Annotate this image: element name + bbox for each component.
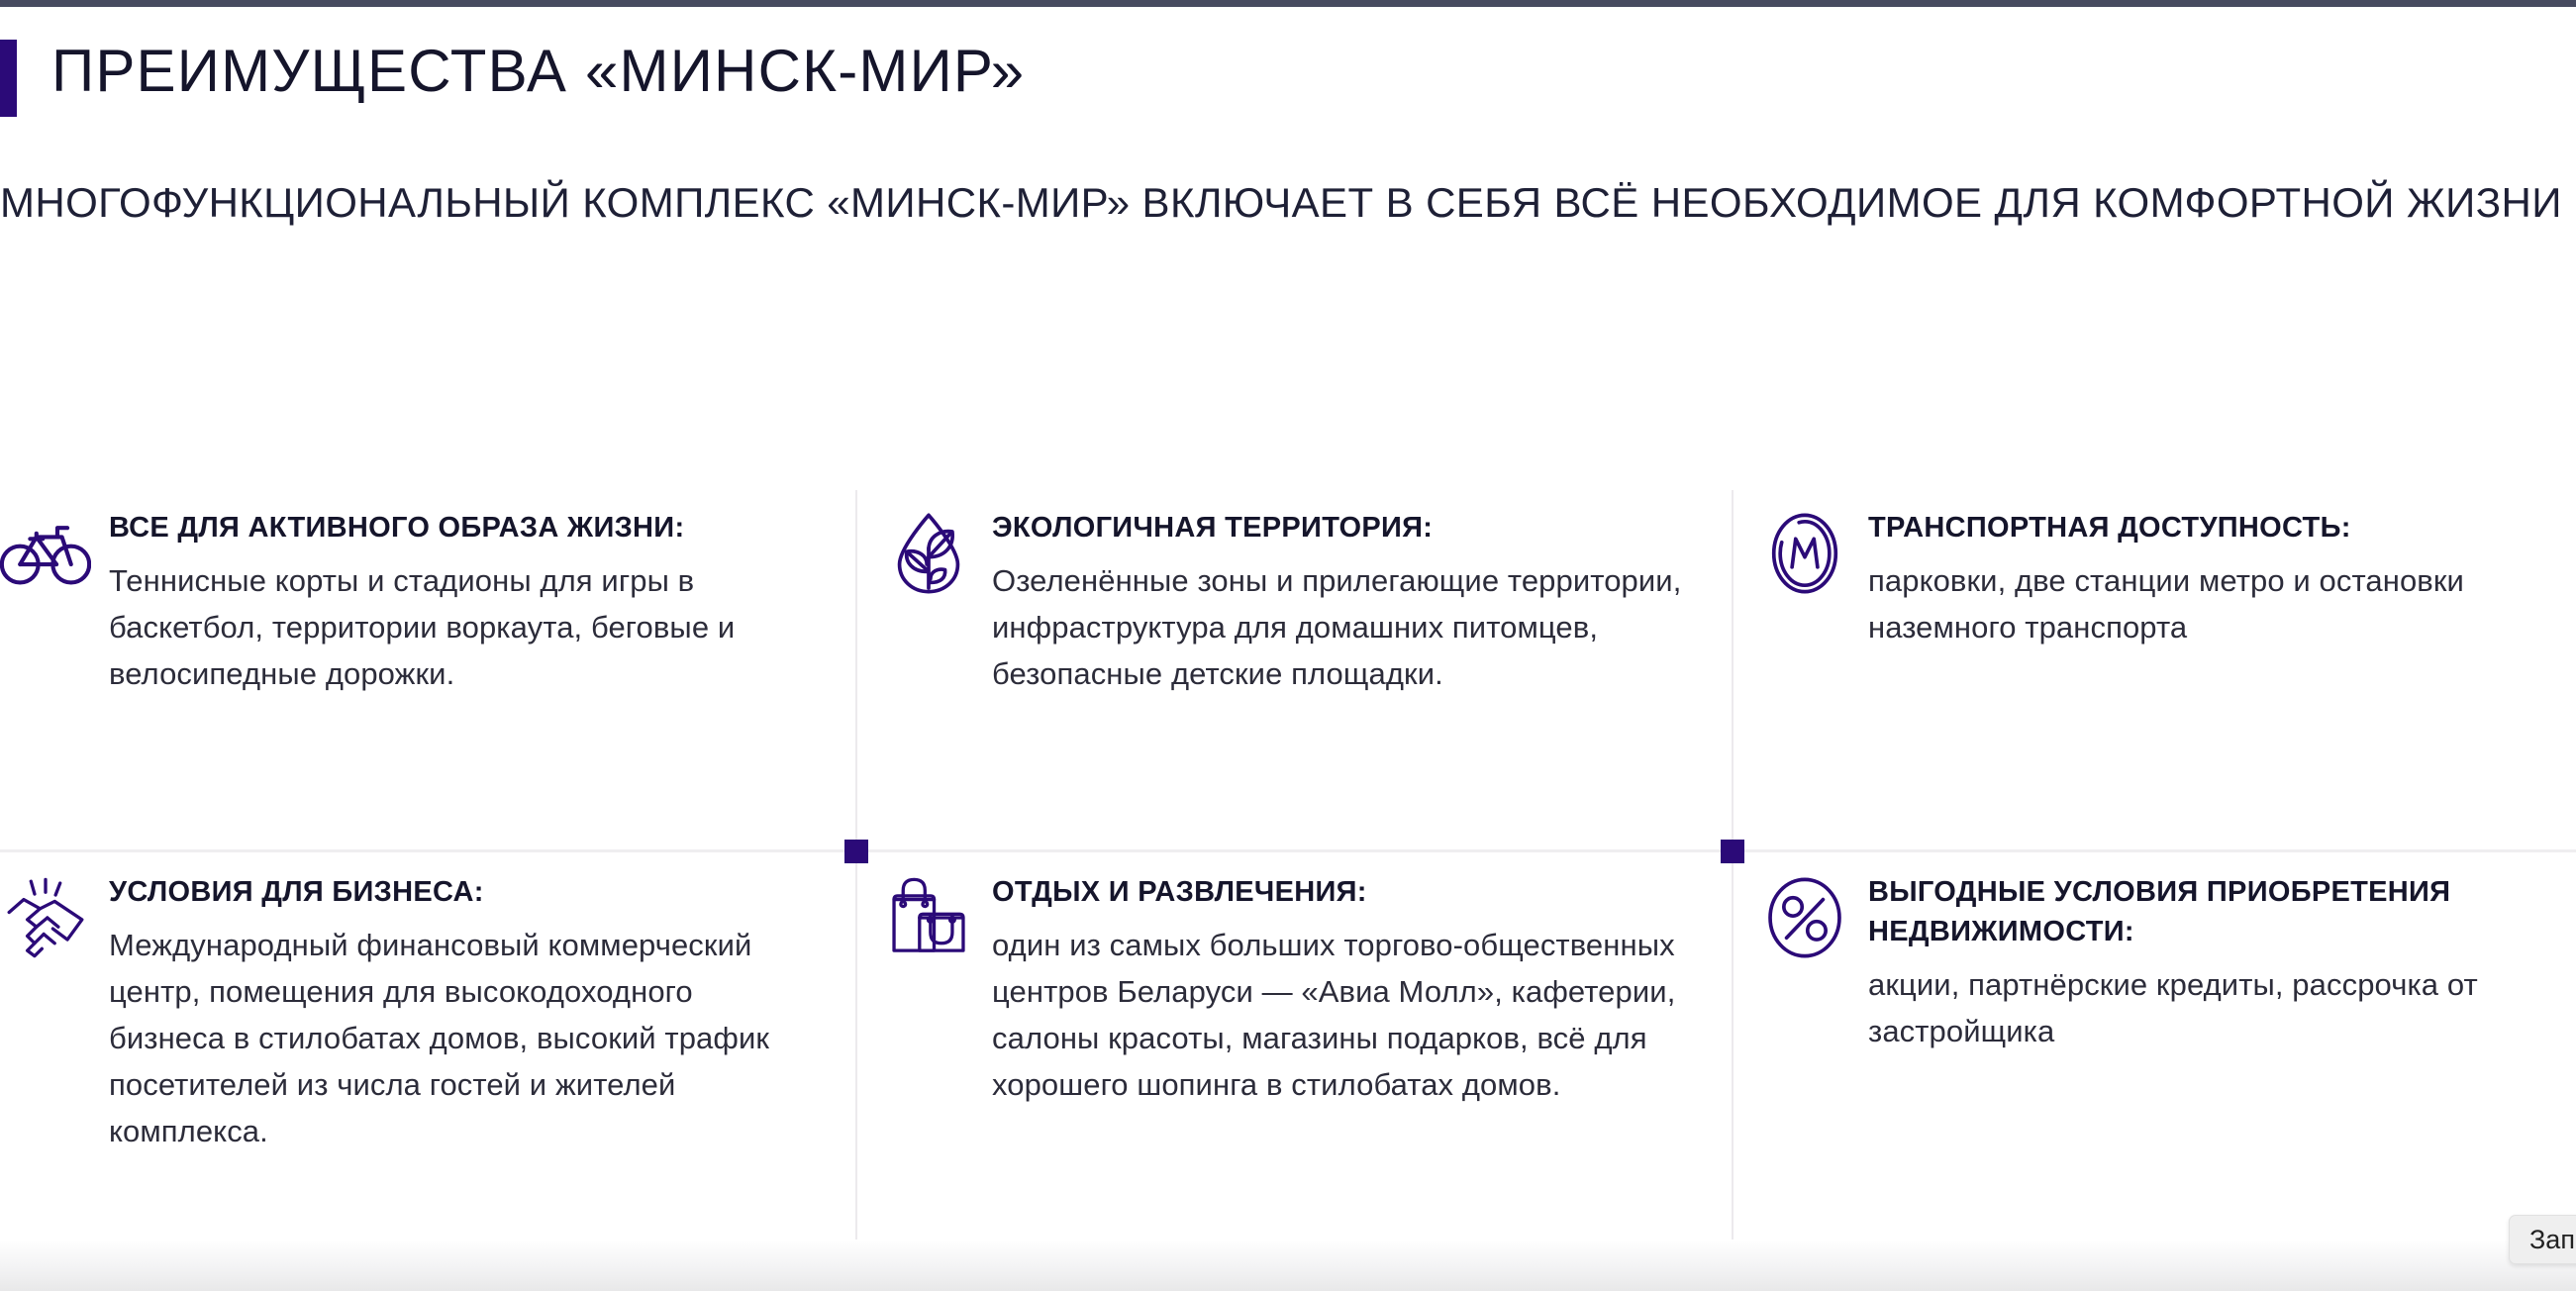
bicycle-icon [0, 504, 109, 613]
percent-icon [1759, 868, 1868, 977]
advantage-card-leisure[interactable]: ОТДЫХ И РАЗВЛЕЧЕНИЯ: один из самых больш… [883, 868, 1695, 1108]
card-body: ТРАНСПОРТНАЯ ДОСТУПНОСТЬ: парковки, две … [1868, 504, 2551, 650]
grid-marker-2 [1721, 840, 1744, 863]
column-divider-1 [855, 490, 857, 1242]
card-title: УСЛОВИЯ ДЛЯ БИЗНЕСА: [109, 872, 802, 912]
card-title: ОТДЫХ И РАЗВЛЕЧЕНИЯ: [992, 872, 1685, 912]
advantage-card-eco-territory[interactable]: ЭКОЛОГИЧНАЯ ТЕРРИТОРИЯ: Озеленённые зоны… [883, 504, 1695, 697]
card-body: ВЫГОДНЫЕ УСЛОВИЯ ПРИОБРЕТЕНИЯ НЕДВИЖИМОС… [1868, 868, 2551, 1054]
card-text: Международный финансовый коммерческий це… [109, 922, 802, 1155]
card-text: акции, партнёрские кредиты, рассрочка от… [1868, 961, 2551, 1054]
card-text: один из самых больших торгово-общественн… [992, 922, 1685, 1108]
advantage-card-active-lifestyle[interactable]: ВСЕ ДЛЯ АКТИВНОГО ОБРАЗА ЖИЗНИ: Теннисны… [0, 504, 812, 697]
card-title: ТРАНСПОРТНАЯ ДОСТУПНОСТЬ: [1868, 508, 2551, 547]
card-body: ОТДЫХ И РАЗВЛЕЧЕНИЯ: один из самых больш… [992, 868, 1685, 1108]
card-body: ЭКОЛОГИЧНАЯ ТЕРРИТОРИЯ: Озеленённые зоны… [992, 504, 1685, 697]
card-title: ВЫГОДНЫЕ УСЛОВИЯ ПРИОБРЕТЕНИЯ НЕДВИЖИМОС… [1868, 872, 2551, 951]
grid-marker-1 [844, 840, 868, 863]
card-body: ВСЕ ДЛЯ АКТИВНОГО ОБРАЗА ЖИЗНИ: Теннисны… [109, 504, 802, 697]
card-title: ЭКОЛОГИЧНАЯ ТЕРРИТОРИЯ: [992, 508, 1685, 547]
column-divider-2 [1732, 490, 1734, 1242]
card-text: Теннисные корты и стадионы для игры в ба… [109, 557, 802, 697]
advantages-grid: ВСЕ ДЛЯ АКТИВНОГО ОБРАЗА ЖИЗНИ: Теннисны… [0, 490, 2576, 1242]
advantage-card-business[interactable]: УСЛОВИЯ ДЛЯ БИЗНЕСА: Международный финан… [0, 868, 812, 1155]
advantage-card-transport[interactable]: ТРАНСПОРТНАЯ ДОСТУПНОСТЬ: парковки, две … [1759, 504, 2551, 650]
heading-accent-bar [0, 40, 17, 117]
row-divider [0, 849, 2576, 852]
eco-leaf-drop-icon [883, 504, 992, 613]
metro-icon [1759, 504, 1868, 613]
card-text: Озеленённые зоны и прилегающие территори… [992, 557, 1685, 697]
page-subtitle: МНОГОФУНКЦИОНАЛЬНЫЙ КОМПЛЕКС «МИНСК-МИР»… [0, 173, 2564, 234]
card-title: ВСЕ ДЛЯ АКТИВНОГО ОБРАЗА ЖИЗНИ: [109, 508, 802, 547]
handshake-icon [0, 868, 109, 977]
page-bottom-fade [0, 1240, 2576, 1291]
card-text: парковки, две станции метро и остановки … [1868, 557, 2551, 650]
browser-chrome-bar [0, 0, 2576, 7]
floating-request-button[interactable]: Зап [2509, 1215, 2576, 1264]
shopping-bags-icon [883, 868, 992, 977]
advantage-card-purchase-terms[interactable]: ВЫГОДНЫЕ УСЛОВИЯ ПРИОБРЕТЕНИЯ НЕДВИЖИМОС… [1759, 868, 2551, 1054]
page-title: ПРЕИМУЩЕСТВА «МИНСК-МИР» [51, 36, 1025, 107]
page-heading: ПРЕИМУЩЕСТВА «МИНСК-МИР» [0, 30, 2576, 119]
page-content: ПРЕИМУЩЕСТВА «МИНСК-МИР» МНОГОФУНКЦИОНАЛ… [0, 7, 2576, 1291]
card-body: УСЛОВИЯ ДЛЯ БИЗНЕСА: Международный финан… [109, 868, 802, 1155]
